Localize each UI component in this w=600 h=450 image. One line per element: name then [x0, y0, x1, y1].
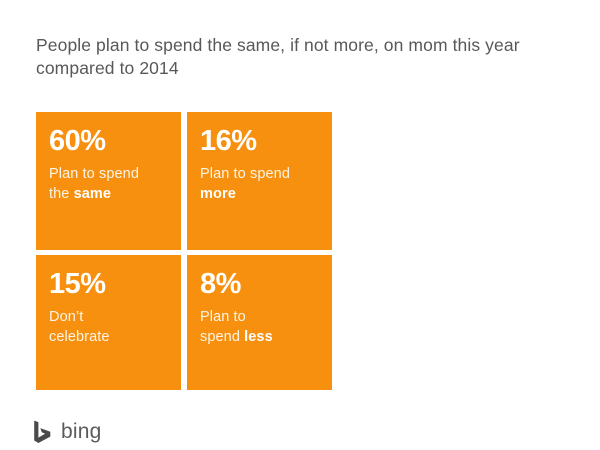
tile-percent-value: 15% — [49, 267, 167, 301]
tile-description-emphasis: less — [244, 329, 273, 345]
tile-percent-value: 16% — [200, 124, 318, 158]
tile-percent-value: 60% — [49, 124, 167, 158]
tile-description-plain: Don’t celebrate — [49, 309, 110, 345]
stat-tile-grid: 60% Plan to spend the same 16% Plan to s… — [36, 112, 326, 390]
tile-description-emphasis: same — [74, 186, 112, 202]
tile-spend-same: 60% Plan to spend the same — [36, 112, 181, 250]
page-title: People plan to spend the same, if not mo… — [36, 34, 566, 80]
infographic-canvas: People plan to spend the same, if not mo… — [0, 0, 600, 450]
bing-b-mark-icon — [33, 420, 52, 443]
tile-percent-value: 8% — [200, 267, 318, 301]
tile-description: Plan to spend the same — [49, 164, 167, 204]
tile-description: Plan to spend more — [200, 164, 318, 204]
bing-wordmark: bing — [61, 421, 102, 442]
tile-description-emphasis: more — [200, 186, 236, 202]
tile-spend-more: 16% Plan to spend more — [187, 112, 332, 250]
tile-description: Plan to spend less — [200, 307, 318, 347]
tile-description-plain: Plan to spend — [200, 166, 290, 182]
tile-description-plain: Plan to spend — [200, 309, 246, 345]
bing-logo: bing — [33, 418, 102, 444]
tile-dont-celebrate: 15% Don’t celebrate — [36, 255, 181, 390]
tile-description: Don’t celebrate — [49, 307, 167, 347]
tile-spend-less: 8% Plan to spend less — [187, 255, 332, 390]
